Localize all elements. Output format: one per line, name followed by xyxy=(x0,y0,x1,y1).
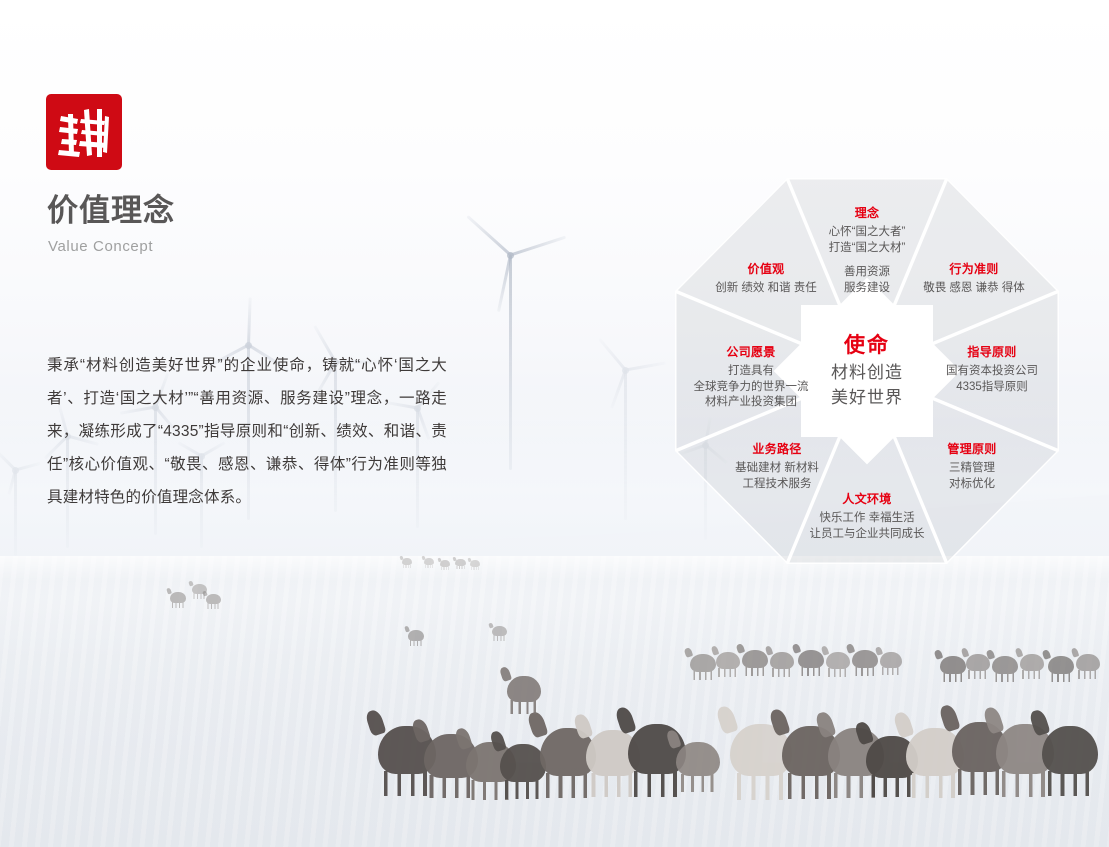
segment-management-principles-line-1: 三精管理 xyxy=(907,461,1037,477)
segment-management-principles: 管理原则 三精管理 对标优化 xyxy=(907,441,1037,492)
segment-management-principles-line-2: 对标优化 xyxy=(907,477,1037,493)
page-title: 价值理念 xyxy=(47,195,175,226)
segment-philosophy-line-2: 打造“国之大材” xyxy=(767,241,967,257)
horse xyxy=(770,652,794,669)
segment-business-path-line-2: 工程技术服务 xyxy=(697,477,857,493)
horse xyxy=(1020,654,1044,671)
segment-company-vision-line-1: 打造具有 xyxy=(671,364,831,380)
segment-company-vision-line-3: 材料产业投资集团 xyxy=(671,395,831,411)
segment-guiding-principles-heading: 指导原则 xyxy=(917,344,1067,360)
segment-guiding-principles-line-2: 4335指导原则 xyxy=(917,380,1067,396)
horse xyxy=(852,650,878,668)
horse xyxy=(826,652,850,669)
segment-code-of-conduct-line-1: 敬畏 感恩 谦恭 得体 xyxy=(889,281,1059,297)
segment-human-environment-line-2: 让员工与企业共同成长 xyxy=(767,527,967,543)
horse xyxy=(798,650,824,668)
intro-paragraph: 秉承“材料创造美好世界”的企业使命，铸就“心怀‘国之大者’、打造‘国之大材’”“… xyxy=(47,349,447,514)
segment-philosophy-heading: 理念 xyxy=(767,205,967,221)
horse xyxy=(742,650,768,668)
segment-company-vision-heading: 公司愿景 xyxy=(671,344,831,360)
horse xyxy=(716,652,740,669)
value-system-octagon: 使命 材料创造 美好世界 理念 心怀“国之大者” 打造“国之大材” 善用资源 服… xyxy=(675,178,1059,564)
horse xyxy=(1076,654,1100,671)
segment-guiding-principles-line-1: 国有资本投资公司 xyxy=(917,364,1067,380)
horse xyxy=(1042,726,1098,774)
horse xyxy=(940,656,966,674)
segment-human-environment: 人文环境 快乐工作 幸福生活 让员工与企业共同成长 xyxy=(767,491,967,542)
segment-core-values-line-1: 创新 绩效 和谐 责任 xyxy=(681,281,851,297)
horse xyxy=(676,742,720,776)
segment-company-vision: 公司愿景 打造具有 全球竞争力的世界一流 材料产业投资集团 xyxy=(671,344,831,411)
seal-logo xyxy=(48,96,120,168)
segment-core-values-heading: 价值观 xyxy=(681,261,851,277)
horse xyxy=(966,654,990,671)
page-subtitle: Value Concept xyxy=(48,238,153,255)
horse xyxy=(690,654,716,672)
segment-business-path-line-1: 基础建材 新材料 xyxy=(697,461,857,477)
horse xyxy=(880,652,902,668)
segment-business-path: 业务路径 基础建材 新材料 工程技术服务 xyxy=(697,441,857,492)
segment-human-environment-heading: 人文环境 xyxy=(767,491,967,507)
segment-core-values: 价值观 创新 绩效 和谐 责任 xyxy=(681,261,851,297)
segment-code-of-conduct-heading: 行为准则 xyxy=(889,261,1059,277)
segment-company-vision-line-2: 全球竞争力的世界一流 xyxy=(671,380,831,396)
intro-panel: 价值理念 Value Concept 秉承“材料创造美好世界”的企业使命，铸就“… xyxy=(0,0,520,847)
segment-philosophy-line-1: 心怀“国之大者” xyxy=(767,225,967,241)
wind-turbine xyxy=(620,370,630,520)
segment-human-environment-line-1: 快乐工作 幸福生活 xyxy=(767,511,967,527)
horse xyxy=(1048,656,1074,674)
segment-business-path-heading: 业务路径 xyxy=(697,441,857,457)
segment-code-of-conduct: 行为准则 敬畏 感恩 谦恭 得体 xyxy=(889,261,1059,297)
horse xyxy=(992,656,1018,674)
segment-management-principles-heading: 管理原则 xyxy=(907,441,1037,457)
segment-guiding-principles: 指导原则 国有资本投资公司 4335指导原则 xyxy=(917,344,1067,395)
